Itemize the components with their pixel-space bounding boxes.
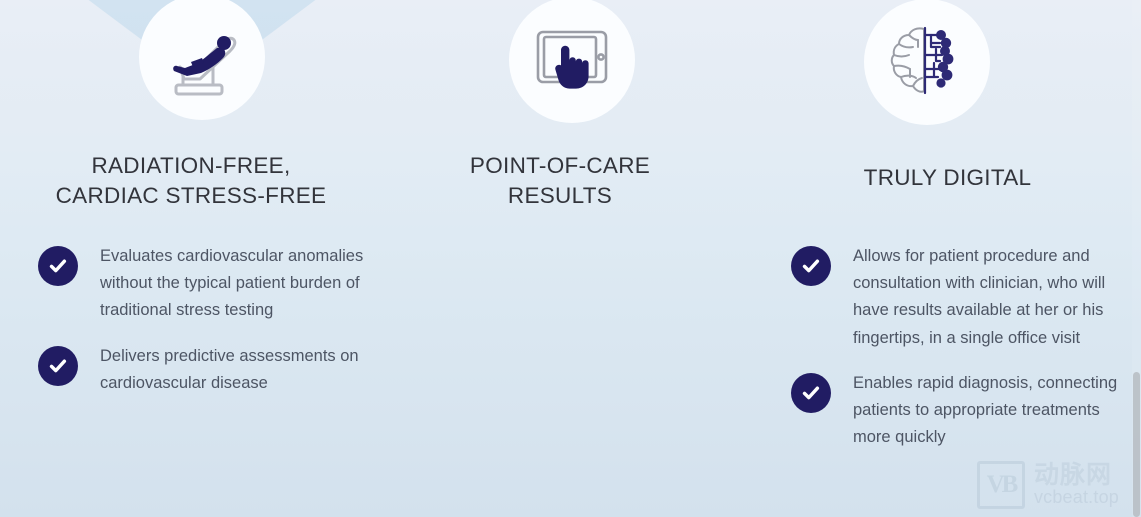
list-item: Delivers predictive assessments on cardi… bbox=[38, 343, 383, 397]
feature-columns: RADIATION-FREE, CARDIAC STRESS-FREE Eval… bbox=[0, 0, 1141, 517]
icon-badge-2 bbox=[509, 0, 635, 123]
scrollbar-track[interactable] bbox=[1132, 0, 1141, 517]
list-item-text: Delivers predictive assessments on cardi… bbox=[100, 347, 359, 392]
check-icon bbox=[38, 346, 78, 386]
feature-bullets-1: Evaluates cardiovascular anomalies witho… bbox=[38, 243, 383, 415]
brain-circuit-icon bbox=[884, 21, 970, 103]
feature-column-radiation-free: RADIATION-FREE, CARDIAC STRESS-FREE Eval… bbox=[0, 0, 382, 517]
feature-heading-2: POINT-OF-CARE RESULTS bbox=[374, 151, 746, 211]
feature-heading-3: TRULY DIGITAL bbox=[754, 163, 1141, 193]
patient-recliner-icon bbox=[154, 17, 250, 97]
feature-column-truly-digital: TRULY DIGITAL Collects patient signals o… bbox=[754, 0, 1141, 517]
feature-heading-1: RADIATION-FREE, CARDIAC STRESS-FREE bbox=[0, 151, 382, 211]
check-icon bbox=[38, 246, 78, 286]
feature-section: RADIATION-FREE, CARDIAC STRESS-FREE Eval… bbox=[0, 0, 1141, 517]
scrollbar-thumb[interactable] bbox=[1133, 372, 1140, 517]
list-item-text: Evaluates cardiovascular anomalies witho… bbox=[100, 247, 363, 319]
feature-column-point-of-care: POINT-OF-CARE RESULTS Allows for patient… bbox=[382, 0, 754, 517]
list-item: Evaluates cardiovascular anomalies witho… bbox=[38, 243, 383, 325]
icon-badge-3 bbox=[864, 0, 990, 125]
icon-badge-1 bbox=[139, 0, 265, 120]
tablet-touch-icon bbox=[528, 20, 616, 100]
